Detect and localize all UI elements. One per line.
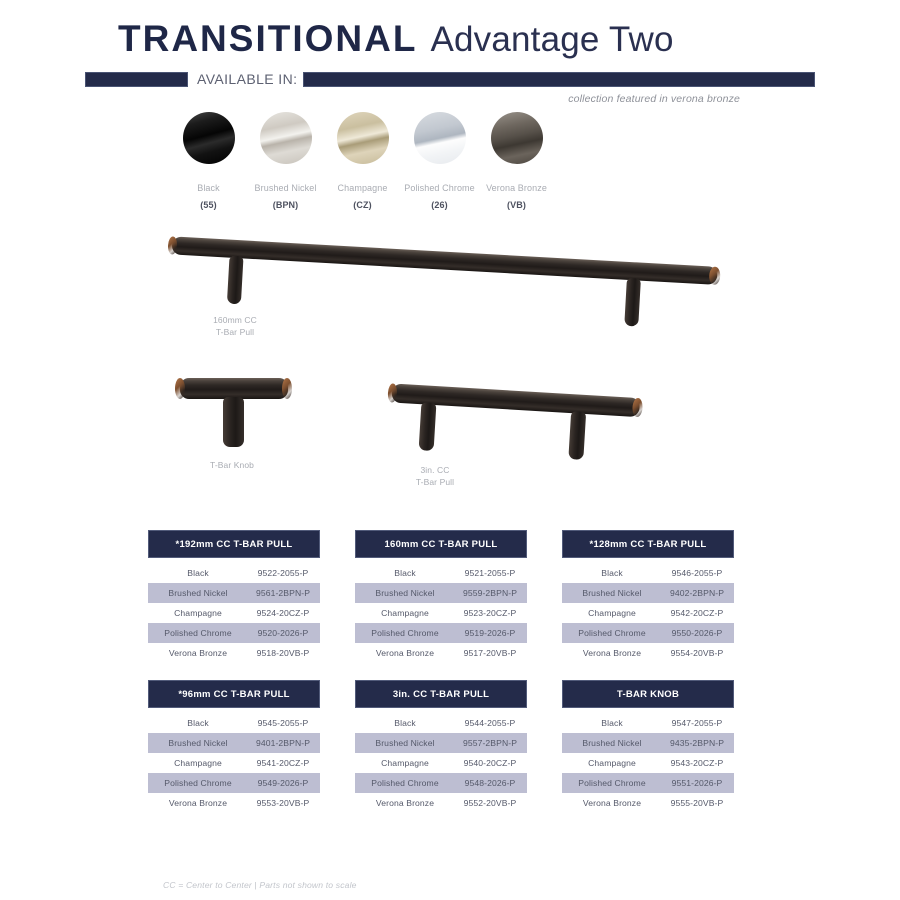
row-code: 9547-2055-P bbox=[660, 718, 734, 728]
finish-name: Verona Bronze bbox=[478, 183, 555, 193]
table-row[interactable]: Champagne 9541-20CZ-P bbox=[148, 753, 320, 773]
product-table-grid: *192mm CC T-BAR PULL Black 9522-2055-P B… bbox=[148, 530, 758, 813]
row-code: 9522-2055-P bbox=[246, 568, 320, 578]
pull-post-left bbox=[227, 256, 244, 305]
row-finish: Verona Bronze bbox=[355, 798, 453, 808]
table-row[interactable]: Black 9521-2055-P bbox=[355, 563, 527, 583]
table-row[interactable]: Polished Chrome 9519-2026-P bbox=[355, 623, 527, 643]
finish-name: Champagne bbox=[324, 183, 401, 193]
page-title: TRANSITIONAL Advantage Two bbox=[118, 20, 674, 57]
row-finish: Polished Chrome bbox=[148, 628, 246, 638]
row-finish: Black bbox=[355, 568, 453, 578]
row-code: 9520-2026-P bbox=[246, 628, 320, 638]
row-code: 9519-2026-P bbox=[453, 628, 527, 638]
product-table-192mm: *192mm CC T-BAR PULL Black 9522-2055-P B… bbox=[148, 530, 320, 663]
row-finish: Black bbox=[148, 718, 246, 728]
table-row[interactable]: Polished Chrome 9549-2026-P bbox=[148, 773, 320, 793]
swatch-disc-black-icon bbox=[183, 112, 235, 164]
row-code: 9557-2BPN-P bbox=[453, 738, 527, 748]
table-body: Black 9546-2055-P Brushed Nickel 9402-2B… bbox=[562, 563, 734, 663]
row-code: 9541-20CZ-P bbox=[246, 758, 320, 768]
row-code: 9542-20CZ-P bbox=[660, 608, 734, 618]
row-code: 9401-2BPN-P bbox=[246, 738, 320, 748]
title-collection-name: TRANSITIONAL bbox=[118, 20, 417, 57]
swatch-disc-verona-bronze-icon bbox=[491, 112, 543, 164]
row-code: 9555-20VB-P bbox=[660, 798, 734, 808]
pull-post-left bbox=[419, 402, 437, 451]
row-code: 9540-20CZ-P bbox=[453, 758, 527, 768]
row-code: 9435-2BPN-P bbox=[660, 738, 734, 748]
row-code: 9551-2026-P bbox=[660, 778, 734, 788]
row-finish: Polished Chrome bbox=[355, 628, 453, 638]
finish-name: Brushed Nickel bbox=[247, 183, 324, 193]
table-row[interactable]: Brushed Nickel 9559-2BPN-P bbox=[355, 583, 527, 603]
swatch-disc-brushed-nickel-icon bbox=[260, 112, 312, 164]
row-code: 9561-2BPN-P bbox=[246, 588, 320, 598]
row-code: 9552-20VB-P bbox=[453, 798, 527, 808]
product-table-96mm: *96mm CC T-BAR PULL Black 9545-2055-P Br… bbox=[148, 680, 320, 813]
available-in-banner: AVAILABLE IN: bbox=[85, 70, 815, 88]
row-finish: Polished Chrome bbox=[562, 778, 660, 788]
row-code: 9550-2026-P bbox=[660, 628, 734, 638]
row-code: 9545-2055-P bbox=[246, 718, 320, 728]
table-row[interactable]: Brushed Nickel 9402-2BPN-P bbox=[562, 583, 734, 603]
render-label-3in-pull: 3in. CC T-Bar Pull bbox=[385, 465, 485, 488]
render-label-line2: T-Bar Pull bbox=[180, 327, 290, 339]
table-row[interactable]: Verona Bronze 9552-20VB-P bbox=[355, 793, 527, 813]
pull-post-right bbox=[624, 278, 641, 327]
pull-bar-cap-right-icon bbox=[632, 398, 643, 418]
row-finish: Brushed Nickel bbox=[148, 588, 246, 598]
row-code: 9517-20VB-P bbox=[453, 648, 527, 658]
row-finish: Brushed Nickel bbox=[148, 738, 246, 748]
banner-bar-right bbox=[303, 72, 815, 87]
row-finish: Verona Bronze bbox=[148, 798, 246, 808]
product-render-3in-pull bbox=[385, 375, 675, 475]
row-finish: Champagne bbox=[562, 758, 660, 768]
table-row[interactable]: Brushed Nickel 9561-2BPN-P bbox=[148, 583, 320, 603]
featured-finish-note: collection featured in verona bronze bbox=[568, 93, 740, 105]
row-code: 9521-2055-P bbox=[453, 568, 527, 578]
table-row[interactable]: Champagne 9523-20CZ-P bbox=[355, 603, 527, 623]
row-finish: Champagne bbox=[355, 758, 453, 768]
row-code: 9559-2BPN-P bbox=[453, 588, 527, 598]
table-row[interactable]: Champagne 9543-20CZ-P bbox=[562, 753, 734, 773]
row-code: 9518-20VB-P bbox=[246, 648, 320, 658]
render-label-t-bar-knob: T-Bar Knob bbox=[182, 460, 282, 472]
row-finish: Brushed Nickel bbox=[355, 588, 453, 598]
render-label-line1: T-Bar Knob bbox=[182, 460, 282, 472]
row-finish: Polished Chrome bbox=[562, 628, 660, 638]
table-row[interactable]: Polished Chrome 9550-2026-P bbox=[562, 623, 734, 643]
table-title: 160mm CC T-BAR PULL bbox=[355, 530, 527, 558]
row-code: 9523-20CZ-P bbox=[453, 608, 527, 618]
row-finish: Champagne bbox=[148, 758, 246, 768]
row-finish: Black bbox=[562, 568, 660, 578]
table-row[interactable]: Black 9547-2055-P bbox=[562, 713, 734, 733]
row-code: 9546-2055-P bbox=[660, 568, 734, 578]
table-body: Black 9545-2055-P Brushed Nickel 9401-2B… bbox=[148, 713, 320, 813]
row-code: 9554-20VB-P bbox=[660, 648, 734, 658]
table-title: *96mm CC T-BAR PULL bbox=[148, 680, 320, 708]
table-row[interactable]: Brushed Nickel 9557-2BPN-P bbox=[355, 733, 527, 753]
row-finish: Brushed Nickel bbox=[562, 738, 660, 748]
table-row[interactable]: Brushed Nickel 9401-2BPN-P bbox=[148, 733, 320, 753]
row-code: 9544-2055-P bbox=[453, 718, 527, 728]
knob-post bbox=[223, 397, 244, 447]
render-label-line1: 3in. CC bbox=[385, 465, 485, 477]
product-render-t-bar-knob bbox=[172, 370, 312, 460]
title-collection-subtitle: Advantage Two bbox=[430, 22, 673, 57]
table-row[interactable]: Black 9546-2055-P bbox=[562, 563, 734, 583]
finish-name: Polished Chrome bbox=[401, 183, 478, 193]
pull-bar-cap-right-icon bbox=[709, 266, 721, 285]
table-body: Black 9544-2055-P Brushed Nickel 9557-2B… bbox=[355, 713, 527, 813]
finish-code: (26) bbox=[401, 200, 478, 210]
table-row[interactable]: Verona Bronze 9555-20VB-P bbox=[562, 793, 734, 813]
finish-code: (CZ) bbox=[324, 200, 401, 210]
table-row[interactable]: Champagne 9524-20CZ-P bbox=[148, 603, 320, 623]
row-finish: Verona Bronze bbox=[562, 648, 660, 658]
swatch-disc-polished-chrome-icon bbox=[414, 112, 466, 164]
table-title: *128mm CC T-BAR PULL bbox=[562, 530, 734, 558]
pull-post-right bbox=[568, 411, 586, 460]
row-code: 9543-20CZ-P bbox=[660, 758, 734, 768]
row-finish: Black bbox=[355, 718, 453, 728]
finish-swatch-brushed-nickel[interactable]: Brushed Nickel (BPN) bbox=[247, 112, 324, 210]
table-body: Black 9521-2055-P Brushed Nickel 9559-2B… bbox=[355, 563, 527, 663]
table-row[interactable]: Black 9544-2055-P bbox=[355, 713, 527, 733]
table-row[interactable]: Black 9522-2055-P bbox=[148, 563, 320, 583]
render-label-line2: T-Bar Pull bbox=[385, 477, 485, 489]
row-code: 9549-2026-P bbox=[246, 778, 320, 788]
row-finish: Champagne bbox=[562, 608, 660, 618]
render-label-line1: 160mm CC bbox=[180, 315, 290, 327]
knob-bar-tube bbox=[180, 378, 288, 399]
product-render-area: 160mm CC T-Bar Pull T-Bar Knob 3in. CC T… bbox=[0, 210, 900, 500]
finish-code: (BPN) bbox=[247, 200, 324, 210]
table-row[interactable]: Champagne 9540-20CZ-P bbox=[355, 753, 527, 773]
finish-code: (55) bbox=[170, 200, 247, 210]
product-table-t-bar-knob: T-BAR KNOB Black 9547-2055-P Brushed Nic… bbox=[562, 680, 734, 813]
row-finish: Verona Bronze bbox=[562, 798, 660, 808]
finish-swatch-polished-chrome[interactable]: Polished Chrome (26) bbox=[401, 112, 478, 210]
row-finish: Polished Chrome bbox=[355, 778, 453, 788]
table-row[interactable]: Polished Chrome 9551-2026-P bbox=[562, 773, 734, 793]
row-finish: Champagne bbox=[148, 608, 246, 618]
table-row[interactable]: Brushed Nickel 9435-2BPN-P bbox=[562, 733, 734, 753]
table-title: T-BAR KNOB bbox=[562, 680, 734, 708]
product-table-160mm: 160mm CC T-BAR PULL Black 9521-2055-P Br… bbox=[355, 530, 527, 663]
table-row[interactable]: Verona Bronze 9517-20VB-P bbox=[355, 643, 527, 663]
row-finish: Verona Bronze bbox=[148, 648, 246, 658]
finish-swatch-verona-bronze[interactable]: Verona Bronze (VB) bbox=[478, 112, 555, 210]
table-title: *192mm CC T-BAR PULL bbox=[148, 530, 320, 558]
product-render-160mm-pull bbox=[165, 228, 725, 358]
row-finish: Champagne bbox=[355, 608, 453, 618]
swatch-disc-champagne-icon bbox=[337, 112, 389, 164]
row-code: 9548-2026-P bbox=[453, 778, 527, 788]
table-row[interactable]: Champagne 9542-20CZ-P bbox=[562, 603, 734, 623]
render-label-160mm-pull: 160mm CC T-Bar Pull bbox=[180, 315, 290, 338]
row-finish: Black bbox=[148, 568, 246, 578]
product-table-3in: 3in. CC T-BAR PULL Black 9544-2055-P Bru… bbox=[355, 680, 527, 813]
knob-bar-cap-left-icon bbox=[175, 378, 185, 399]
row-code: 9553-20VB-P bbox=[246, 798, 320, 808]
row-finish: Brushed Nickel bbox=[562, 588, 660, 598]
table-row[interactable]: Verona Bronze 9518-20VB-P bbox=[148, 643, 320, 663]
table-title: 3in. CC T-BAR PULL bbox=[355, 680, 527, 708]
row-finish: Verona Bronze bbox=[355, 648, 453, 658]
row-code: 9524-20CZ-P bbox=[246, 608, 320, 618]
row-finish: Black bbox=[562, 718, 660, 728]
product-table-128mm: *128mm CC T-BAR PULL Black 9546-2055-P B… bbox=[562, 530, 734, 663]
row-finish: Polished Chrome bbox=[148, 778, 246, 788]
table-body: Black 9522-2055-P Brushed Nickel 9561-2B… bbox=[148, 563, 320, 663]
footer-note: CC = Center to Center | Parts not shown … bbox=[163, 880, 357, 890]
page-header: TRANSITIONAL Advantage Two AVAILABLE IN:… bbox=[0, 0, 900, 110]
row-code: 9402-2BPN-P bbox=[660, 588, 734, 598]
table-row[interactable]: Verona Bronze 9553-20VB-P bbox=[148, 793, 320, 813]
finish-swatch-champagne[interactable]: Champagne (CZ) bbox=[324, 112, 401, 210]
table-body: Black 9547-2055-P Brushed Nickel 9435-2B… bbox=[562, 713, 734, 813]
table-row[interactable]: Black 9545-2055-P bbox=[148, 713, 320, 733]
table-row[interactable]: Polished Chrome 9520-2026-P bbox=[148, 623, 320, 643]
knob-bar-cap-right-icon bbox=[282, 378, 292, 399]
table-row[interactable]: Verona Bronze 9554-20VB-P bbox=[562, 643, 734, 663]
finish-name: Black bbox=[170, 183, 247, 193]
available-in-label: AVAILABLE IN: bbox=[197, 70, 297, 88]
finish-code: (VB) bbox=[478, 200, 555, 210]
finish-swatch-black[interactable]: Black (55) bbox=[170, 112, 247, 210]
row-finish: Brushed Nickel bbox=[355, 738, 453, 748]
table-row[interactable]: Polished Chrome 9548-2026-P bbox=[355, 773, 527, 793]
banner-bar-left bbox=[85, 72, 188, 87]
finish-swatch-list: Black (55) Brushed Nickel (BPN) Champagn… bbox=[170, 112, 555, 210]
